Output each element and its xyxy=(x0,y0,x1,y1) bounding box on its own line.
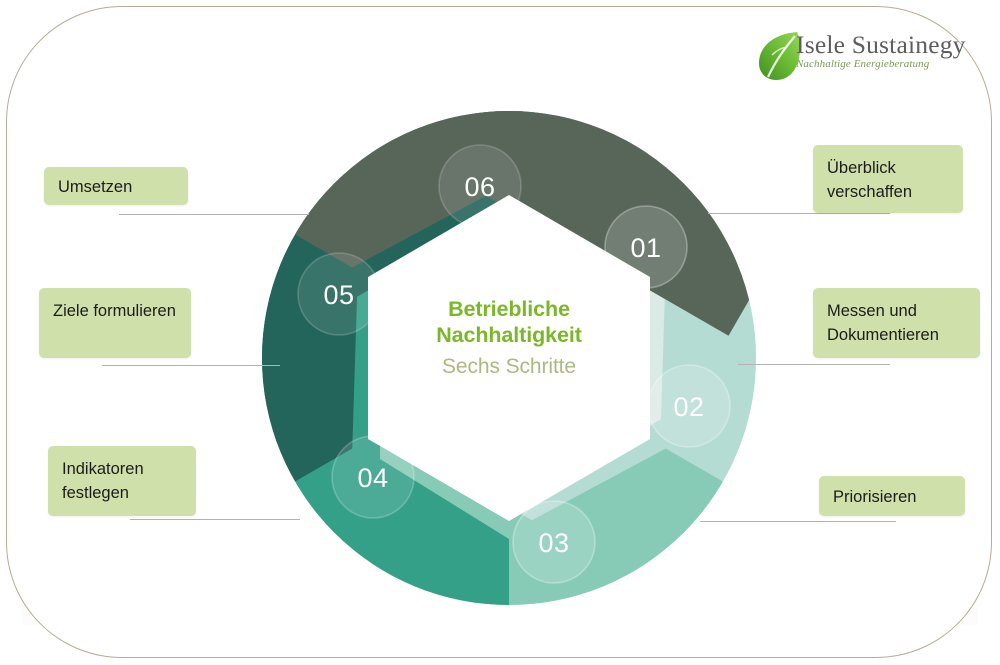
badge-02[interactable]: 02 xyxy=(648,365,730,447)
svg-text:03: 03 xyxy=(538,528,569,558)
svg-text:02: 02 xyxy=(673,392,704,422)
six-step-cycle-diagram: 01 02 03 04 05 06 xyxy=(258,107,760,609)
connector-line-03 xyxy=(700,521,896,522)
svg-text:01: 01 xyxy=(630,233,661,263)
slide-canvas: Isele Sustainegy Nachhaltige Energiebera… xyxy=(0,0,1000,665)
svg-text:05: 05 xyxy=(323,280,354,310)
connector-line-05 xyxy=(102,365,280,366)
logo-tagline: Nachhaltige Energieberatung xyxy=(796,58,958,71)
step-label-priorisieren[interactable]: Priorisieren xyxy=(819,476,965,516)
badge-03[interactable]: 03 xyxy=(513,501,595,583)
badge-04[interactable]: 04 xyxy=(332,436,414,518)
connector-line-02 xyxy=(738,364,890,365)
logo-text: Isele Sustainegy Nachhaltige Energiebera… xyxy=(796,30,958,71)
step-label-umsetzen[interactable]: Umsetzen xyxy=(44,167,188,205)
step-label-indikatoren-festlegen[interactable]: Indikatoren festlegen xyxy=(48,446,196,516)
svg-text:04: 04 xyxy=(357,463,388,493)
step-label-messen-und-dokumentieren[interactable]: Messen und Dokumentieren xyxy=(813,288,980,358)
logo-brand-name: Isele Sustainegy xyxy=(796,30,958,59)
step-label-ziele-formulieren[interactable]: Ziele formulieren xyxy=(39,288,191,358)
badge-06[interactable]: 06 xyxy=(439,145,521,227)
step-label-ueberblick-verschaffen[interactable]: Überblick verschaffen xyxy=(813,145,963,213)
svg-text:06: 06 xyxy=(464,172,495,202)
connector-line-01 xyxy=(708,213,890,214)
badge-01[interactable]: 01 xyxy=(605,206,687,288)
badge-05[interactable]: 05 xyxy=(298,253,380,335)
connector-line-04 xyxy=(130,519,300,520)
brand-logo[interactable]: Isele Sustainegy Nachhaltige Energiebera… xyxy=(757,28,957,88)
connector-line-06 xyxy=(119,214,309,215)
